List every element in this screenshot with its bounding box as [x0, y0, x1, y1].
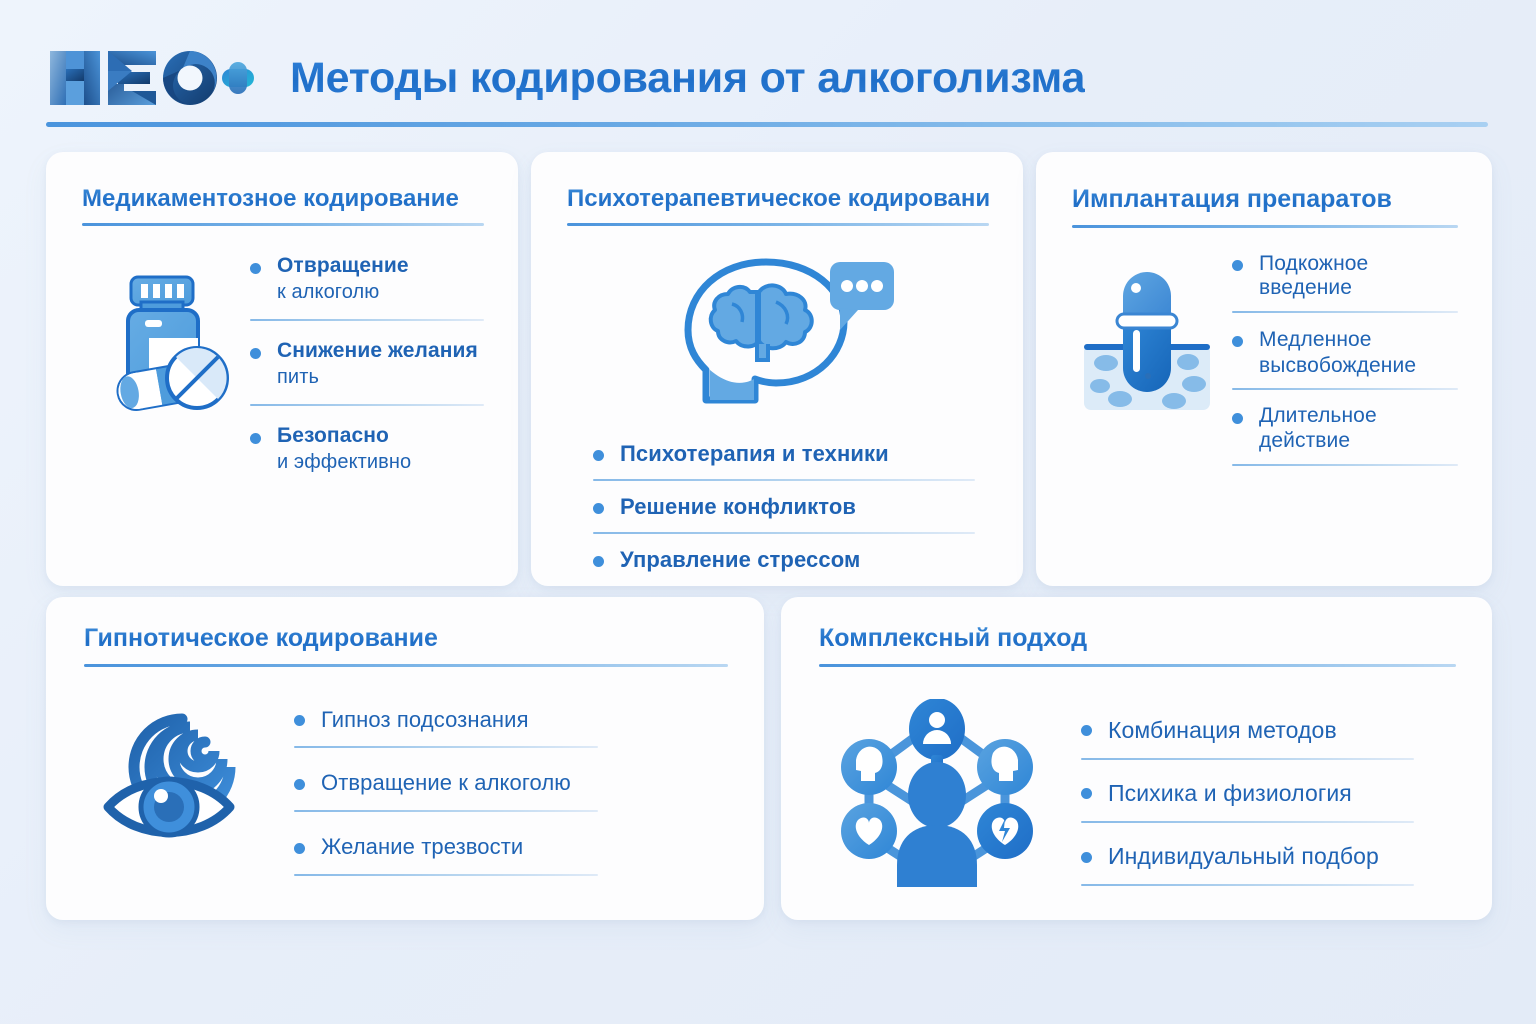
bullet-dot-icon [1081, 852, 1092, 863]
bullet-item: Решение конфликтов [593, 494, 975, 520]
bullet-list: Гипноз подсознания Отвращение к алкоголю… [294, 707, 598, 899]
bullet-list: Комбинация методов Психика и физиология … [1081, 717, 1414, 906]
bullet-item: Снижение желания пить [250, 339, 484, 390]
bullet-list: Психотерапия и техники Решение конфликто… [593, 441, 975, 573]
card-title-divider [567, 223, 989, 226]
bullet-main: Гипноз подсознания [321, 707, 598, 733]
card-title: Медикаментозное кодирование [82, 186, 484, 212]
card-title-divider [819, 664, 1456, 667]
bullet-dot-icon [250, 263, 261, 274]
card-psihoterapevticheskoe[interactable]: Психотерапевтическое кодирование [531, 152, 1023, 586]
bullet-dot-icon [1232, 336, 1243, 347]
bullet-dot-icon [1081, 725, 1092, 736]
card-kompleksnyy[interactable]: Комплексный подход [781, 597, 1492, 920]
bullet-item: Комбинация методов [1081, 717, 1414, 744]
page-title: Методы кодирования от алкоголизма [290, 57, 1085, 100]
card-title: Психотерапевтическое кодирование [567, 186, 989, 212]
bullet-separator [1232, 464, 1458, 466]
bullet-item: Подкожное введение [1232, 252, 1458, 302]
bullet-dot-icon [593, 503, 604, 514]
card-title: Гипнотическое кодирование [84, 625, 728, 653]
bullet-separator [1081, 758, 1414, 760]
bullet-item: Медленное высвобождение [1232, 327, 1458, 378]
bullet-separator [1081, 884, 1414, 886]
bullet-dot-icon [593, 556, 604, 567]
bullet-separator [1232, 388, 1458, 390]
card-title-divider [84, 664, 728, 667]
bullet-separator [250, 319, 484, 321]
infographic-page: Методы кодирования от алкоголизма Медика… [0, 0, 1536, 1024]
bullet-main: Подкожное введение [1259, 252, 1458, 302]
bullet-main: Отвращение к алкоголю [321, 770, 598, 796]
bullet-main: Снижение желания [277, 339, 484, 364]
bullet-main: Комбинация методов [1108, 717, 1414, 744]
bullet-item: Психика и физиология [1081, 780, 1414, 807]
bullet-dot-icon [1081, 788, 1092, 799]
card-medikamentoznoe[interactable]: Медикаментозное кодирование [46, 152, 518, 586]
neo-plus-logo [46, 45, 256, 111]
card-title-divider [82, 223, 484, 226]
bullet-dot-icon [1232, 413, 1243, 424]
bullet-separator [294, 746, 598, 748]
bullet-dot-icon [294, 715, 305, 726]
cards-row-bottom: Гипнотическое кодирование [46, 597, 1492, 920]
bullet-main: Индивидуальный подбор [1108, 843, 1414, 870]
card-title: Имплантация препаратов [1072, 186, 1458, 214]
head-brain-speech-icon [567, 248, 989, 413]
bullet-main: Безопасно [277, 424, 484, 449]
bullet-main: Длительное действие [1259, 404, 1458, 454]
bullet-dot-icon [294, 843, 305, 854]
bullet-list: Подкожное введение Медленное высвобожден… [1232, 252, 1458, 480]
bullet-separator [593, 532, 975, 534]
page-header: Методы кодирования от алкоголизма [46, 30, 1490, 126]
bullet-item: Длительное действие [1232, 404, 1458, 454]
bullet-dot-icon [250, 433, 261, 444]
bullet-separator [593, 479, 975, 481]
bullet-separator [294, 874, 598, 876]
bullet-item: Отвращение к алкоголю [250, 254, 484, 305]
bullet-item: Управление стрессом [593, 547, 975, 573]
header-divider [46, 122, 1488, 127]
card-title: Комплексный подход [819, 625, 1456, 653]
bullet-main: Психотерапия и техники [620, 441, 975, 467]
bullet-dot-icon [250, 348, 261, 359]
card-title-divider [1072, 225, 1458, 228]
bullet-item: Индивидуальный подбор [1081, 843, 1414, 870]
bullet-main: Медленное высвобождение [1259, 327, 1458, 378]
bullet-item: Безопасно и эффективно [250, 424, 484, 475]
pill-bottle-icon [82, 254, 242, 474]
bullet-separator [1081, 821, 1414, 823]
bullet-sub: пить [277, 364, 484, 390]
bullet-item: Желание трезвости [294, 834, 598, 860]
bullet-main: Психика и физиология [1108, 780, 1414, 807]
bullet-dot-icon [1232, 260, 1243, 271]
bullet-item: Отвращение к алкоголю [294, 770, 598, 796]
bullet-separator [250, 404, 484, 406]
bullet-separator [294, 810, 598, 812]
bullet-sub: к алкоголю [277, 279, 484, 305]
bullet-item: Гипноз подсознания [294, 707, 598, 733]
bullet-main: Управление стрессом [620, 547, 975, 573]
implant-capsule-icon [1072, 252, 1222, 480]
bullet-main: Отвращение [277, 254, 484, 279]
bullet-dot-icon [294, 779, 305, 790]
bullet-main: Желание трезвости [321, 834, 598, 860]
network-person-icon [819, 691, 1055, 906]
bullet-main: Решение конфликтов [620, 494, 975, 520]
bullet-item: Психотерапия и техники [593, 441, 975, 467]
card-gipnoticheskoe[interactable]: Гипнотическое кодирование [46, 597, 764, 920]
cards-row-top: Медикаментозное кодирование [46, 152, 1492, 586]
bullet-dot-icon [593, 450, 604, 461]
bullet-separator [1232, 311, 1458, 313]
bullet-list: Отвращение к алкоголю Снижение желания п… [250, 254, 484, 474]
hypnosis-eye-icon [84, 697, 274, 899]
card-implantaciya[interactable]: Имплантация препаратов [1036, 152, 1492, 586]
bullet-sub: и эффективно [277, 449, 484, 475]
